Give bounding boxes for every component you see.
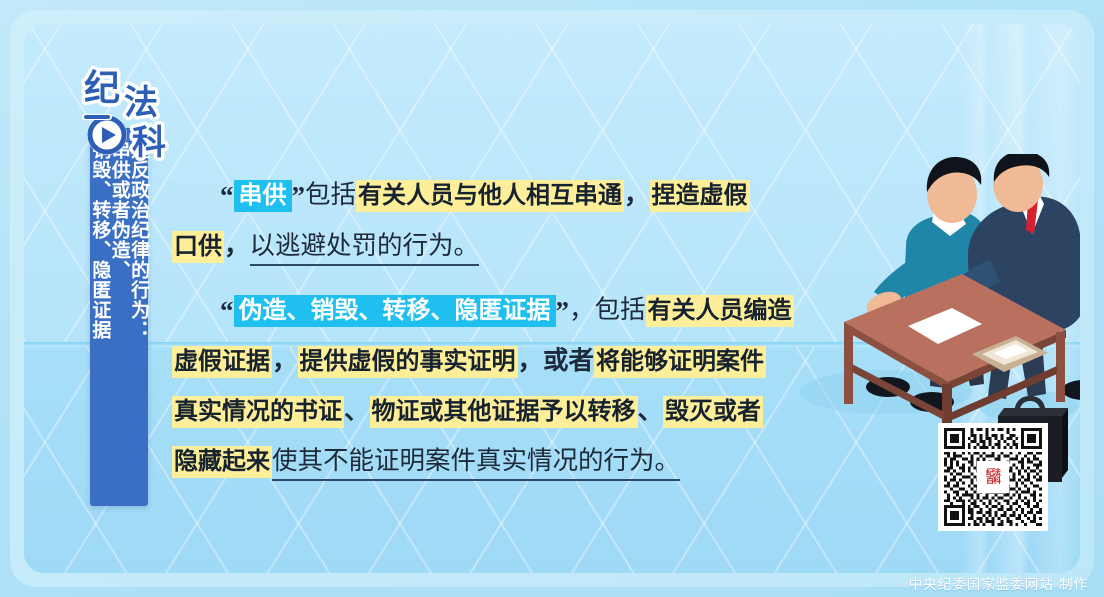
separator-2: ， — [224, 231, 250, 260]
paragraph-1-line-1: “串供”包括有关人员与他人相互串通，捏造虚假 — [172, 170, 812, 221]
term-highlight-cuangong: 串供 — [234, 180, 292, 212]
inner-frame: 纪 纪 法 法 科 科 违反政治纪律的行为： 串供或者伪造、 — [24, 24, 1080, 573]
paragraph-1-tail: 以逃避处罚的行为。 — [250, 231, 480, 266]
highlight-4: 有关人员编造 — [646, 295, 794, 327]
brand-logo[interactable]: 纪 纪 法 法 科 科 — [76, 66, 184, 162]
svg-text:法: 法 — [124, 83, 158, 123]
highlight-3: 口供 — [172, 231, 224, 263]
highlight-1: 有关人员与他人相互串通 — [356, 180, 624, 212]
title-ribbon: 违反政治纪律的行为： 串供或者伪造、 销毁、转移、隐匿证据 — [90, 128, 148, 506]
separator-1: ， — [624, 180, 650, 209]
close-quote-2: ” — [556, 296, 570, 326]
separator-5: 、 — [344, 396, 370, 425]
poster-canvas: 纪 纪 法 法 科 科 违反政治纪律的行为： 串供或者伪造、 — [0, 0, 1104, 597]
separator-0: ， — [569, 295, 595, 324]
qr-logo-char-4: 科 — [993, 476, 1000, 485]
highlight-9: 物证或其他证据予以转移 — [370, 396, 638, 428]
ribbon-column-1: 违反政治纪律的行为： — [129, 140, 148, 340]
qr-canvas: 纪法 百科 — [943, 428, 1043, 526]
svg-text:纪: 纪 — [84, 68, 120, 109]
separator-4: ， — [518, 346, 544, 375]
highlight-8: 真实情况的书证 — [172, 396, 344, 428]
svg-text:科: 科 — [132, 123, 166, 162]
highlight-6: 提供虚假的事实证明 — [298, 346, 518, 378]
highlight-2: 捏造虚假 — [650, 180, 750, 212]
connector-huozhe: 或者 — [543, 346, 594, 375]
paragraph-2-line-2: 虚假证据，提供虚假的事实证明，或者将能够证明案件 — [172, 336, 812, 386]
paragraph-2-line-3: 真实情况的书证、物证或其他证据予以转移、毁灭或者 — [172, 386, 812, 436]
qr-code[interactable]: 纪法 百科 — [938, 423, 1048, 531]
highlight-7: 将能够证明案件 — [594, 346, 766, 378]
paragraph-2-line-4: 隐藏起来使其不能证明案件真实情况的行为。 — [172, 436, 812, 486]
paragraph-1: “串供”包括有关人员与他人相互串通，捏造虚假 口供，以逃避处罚的行为。 — [172, 170, 812, 271]
open-quote: “ — [220, 181, 234, 211]
highlight-11: 隐藏起来 — [172, 446, 272, 478]
separator-6: 、 — [638, 396, 664, 425]
ribbon-column-3: 销毁、转移、隐匿证据 — [90, 140, 109, 340]
open-quote-2: “ — [220, 296, 234, 326]
paragraph-2-line-1: “伪造、销毁、转移、隐匿证据”，包括有关人员编造 — [172, 285, 812, 336]
paragraph-2-tail: 使其不能证明案件真实情况的行为。 — [272, 446, 680, 481]
close-quote: ” — [292, 181, 306, 211]
qr-center-logo: 纪法 百科 — [977, 461, 1009, 493]
lead-text-2: 包括 — [595, 295, 646, 324]
highlight-10: 毁灭或者 — [663, 396, 763, 428]
lead-text: 包括 — [305, 180, 356, 209]
highlight-5: 虚假证据 — [172, 346, 272, 378]
credit-text: 中央纪委国家监委网站 制作 — [909, 573, 1088, 593]
body-copy: “串供”包括有关人员与他人相互串通，捏造虚假 口供，以逃避处罚的行为。 “伪造、… — [172, 170, 812, 500]
separator-3: ， — [272, 346, 298, 375]
paragraph-2: “伪造、销毁、转移、隐匿证据”，包括有关人员编造 虚假证据，提供虚假的事实证明，… — [172, 285, 812, 486]
term-highlight-weizao: 伪造、销毁、转移、隐匿证据 — [234, 295, 556, 327]
qr-logo-char-3: 百 — [986, 476, 993, 485]
paragraph-1-line-2: 口供，以逃避处罚的行为。 — [172, 221, 812, 271]
